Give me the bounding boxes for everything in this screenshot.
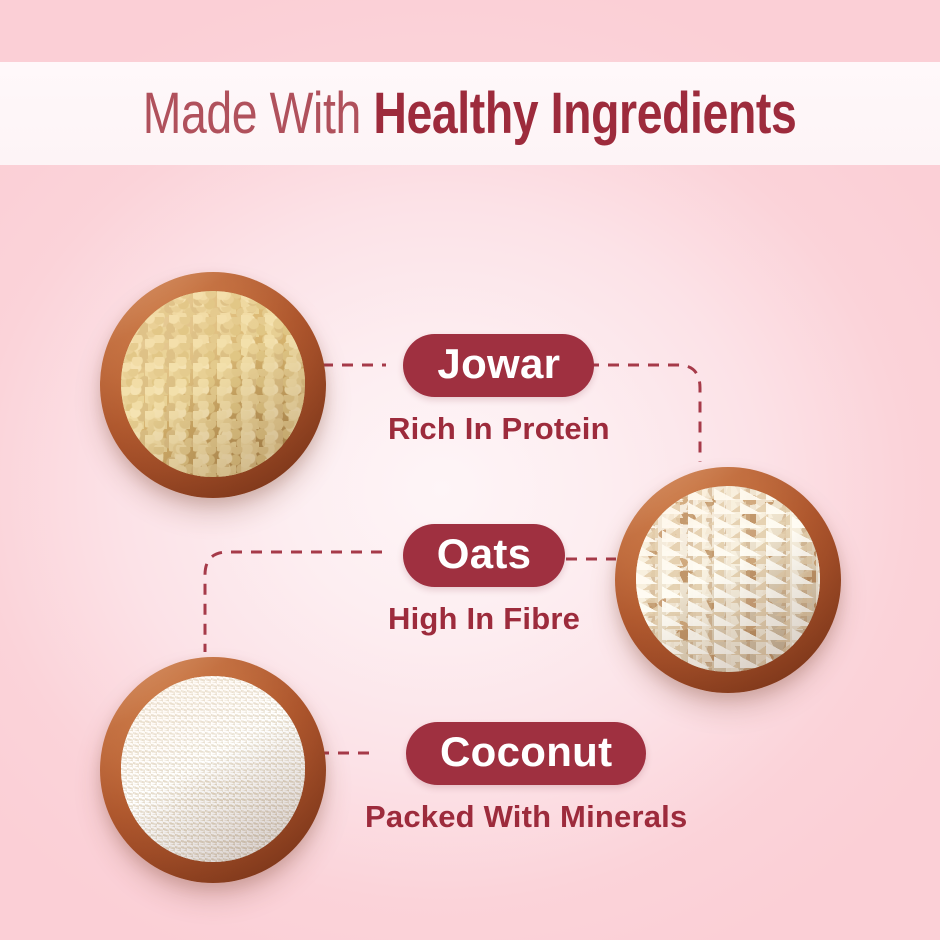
ingredient-badge-oats: Oats: [403, 524, 566, 587]
ingredient-benefit-coconut: Packed With Minerals: [365, 801, 687, 832]
label-group-jowar: Jowar Rich In Protein: [388, 334, 610, 444]
bowl-contents-jowar: [121, 291, 304, 476]
ingredient-benefit-jowar: Rich In Protein: [388, 413, 610, 444]
sorghum-grains-texture: [121, 291, 304, 476]
terracotta-bowl: [615, 467, 841, 693]
bowl-coconut: [100, 657, 326, 883]
bowl-jowar: [100, 272, 326, 498]
page-title-light: Made With: [143, 81, 374, 146]
page-title-bold: Healthy Ingredients: [374, 81, 797, 146]
page-title: Made With Healthy Ingredients: [143, 85, 797, 143]
terracotta-bowl: [100, 657, 326, 883]
ingredient-badge-jowar: Jowar: [403, 334, 594, 397]
rolled-oats-texture: [636, 486, 819, 671]
ingredient-benefit-oats: High In Fibre: [388, 603, 580, 634]
bowl-oats: [615, 467, 841, 693]
terracotta-bowl: [100, 272, 326, 498]
desiccated-coconut-texture: [121, 676, 304, 861]
ingredient-badge-coconut: Coconut: [406, 722, 646, 785]
label-group-coconut: Coconut Packed With Minerals: [365, 722, 687, 832]
bowl-contents-oats: [636, 486, 819, 671]
connector-oats-to-coconut-bowl: [205, 552, 382, 652]
ingredients-infographic: Made With Healthy Ingredients: [0, 0, 940, 940]
bowl-contents-coconut: [121, 676, 304, 861]
label-group-oats: Oats High In Fibre: [388, 524, 580, 634]
header-band: Made With Healthy Ingredients: [0, 62, 940, 165]
